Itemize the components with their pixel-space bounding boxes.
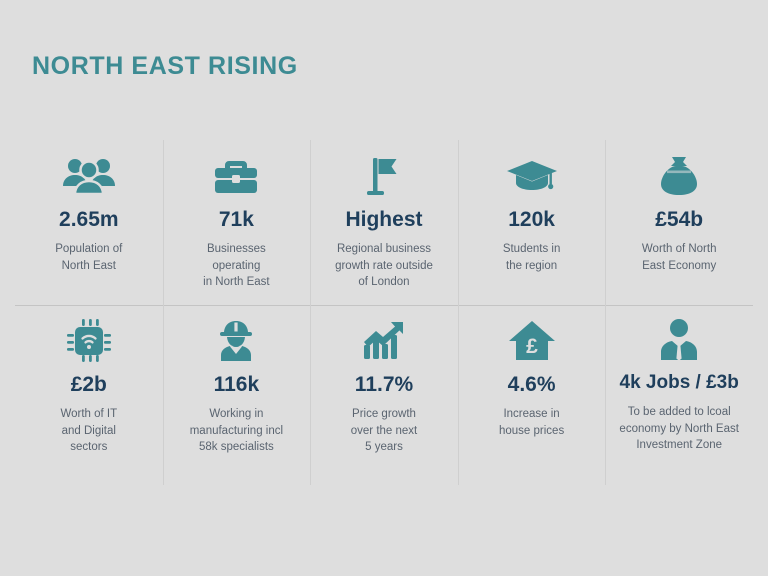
house-pound-icon: £: [508, 315, 556, 367]
stat-cell-it-digital: £2b Worth of IT and Digital sectors: [15, 305, 163, 485]
stat-value: £54b: [655, 208, 703, 231]
flag-icon: [361, 150, 407, 202]
briefcase-icon: [212, 150, 260, 202]
stat-description: Working in manufacturing incl 58k specia…: [190, 406, 283, 456]
stat-value: £2b: [71, 373, 107, 396]
stat-cell-investment-zone: 4k Jobs / £3b To be added to lcoal econo…: [605, 305, 753, 485]
stat-value: 4k Jobs / £3b: [620, 373, 739, 394]
stat-value: Highest: [345, 208, 422, 231]
stat-cell-growth-rate: Highest Regional business growth rate ou…: [310, 140, 458, 305]
stat-cell-businesses: 71k Businesses operating in North East: [163, 140, 311, 305]
stats-grid: 2.65m Population of North East 71k Busin…: [15, 140, 753, 485]
stat-cell-economy-worth: £54b Worth of North East Economy: [605, 140, 753, 305]
stat-description: Worth of IT and Digital sectors: [60, 406, 117, 456]
stat-cell-population: 2.65m Population of North East: [15, 140, 163, 305]
businessman-icon: [656, 315, 702, 367]
stat-cell-price-growth: 11.7% Price growth over the next 5 years: [310, 305, 458, 485]
stat-description: Businesses operating in North East: [203, 241, 269, 291]
growth-chart-arrow-icon: [360, 315, 408, 367]
group-people-icon: [62, 150, 116, 202]
stat-description: Population of North East: [55, 241, 122, 274]
stat-value: 4.6%: [508, 373, 556, 396]
stat-cell-house-prices: £ 4.6% Increase in house prices: [458, 305, 606, 485]
stat-value: 2.65m: [59, 208, 119, 231]
stat-description: Increase in house prices: [499, 406, 564, 439]
construction-worker-icon: [212, 315, 260, 367]
stat-description: To be added to lcoal economy by North Ea…: [619, 404, 739, 454]
graduation-cap-icon: [506, 150, 558, 202]
stat-value: 11.7%: [355, 373, 413, 396]
page-title: NORTH EAST RISING: [32, 52, 298, 81]
svg-text:£: £: [526, 335, 538, 358]
stat-description: Students in the region: [503, 241, 561, 274]
money-bag-icon: [656, 150, 702, 202]
stat-value: 71k: [219, 208, 254, 231]
stat-description: Regional business growth rate outside of…: [335, 241, 433, 291]
stat-cell-manufacturing: 116k Working in manufacturing incl 58k s…: [163, 305, 311, 485]
microchip-wifi-icon: [65, 315, 113, 367]
stat-cell-students: 120k Students in the region: [458, 140, 606, 305]
infographic-slide: NORTH EAST RISING 2.65m Population of No…: [0, 0, 768, 576]
stat-description: Price growth over the next 5 years: [351, 406, 417, 456]
stat-value: 120k: [508, 208, 555, 231]
stat-description: Worth of North East Economy: [642, 241, 717, 274]
stat-value: 116k: [214, 373, 260, 396]
